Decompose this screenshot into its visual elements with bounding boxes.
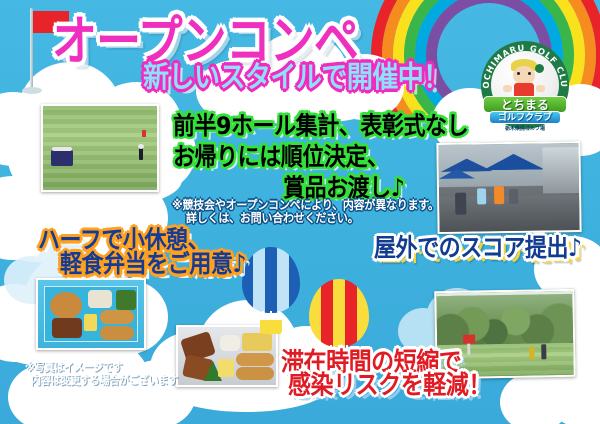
disclaimer-line-2: 詳しくは、お問い合わせください。 bbox=[186, 212, 358, 225]
flag-cup-icon bbox=[22, 87, 42, 94]
photo-salad bbox=[88, 290, 112, 308]
mascot-hand-right-icon bbox=[536, 85, 545, 92]
photo-tamagoyaki bbox=[84, 314, 97, 331]
mascot-eye-right-icon bbox=[528, 72, 531, 75]
balloon-red-gore-1 bbox=[309, 279, 321, 347]
poster-subtitle: 新しいスタイルで開催中！ bbox=[143, 63, 449, 94]
balloon-red-gore-4 bbox=[345, 279, 357, 347]
photo-green-flag bbox=[463, 335, 475, 344]
photo-fried-1 bbox=[100, 310, 134, 324]
body-line-2: お帰りには順位決定、 bbox=[173, 145, 389, 171]
balloon-blue-basket bbox=[260, 320, 282, 334]
photo-green-player-1 bbox=[529, 346, 534, 359]
photo-rice bbox=[220, 335, 240, 351]
photo-greens bbox=[116, 290, 136, 310]
mascot-eye-left-icon bbox=[517, 72, 520, 75]
logo-name-banner-2: ゴルフクラブ bbox=[489, 111, 561, 124]
right-callout-line-1: 屋外でのスコア提出♪ bbox=[374, 236, 582, 262]
balloon-blue-envelope bbox=[242, 247, 300, 313]
footnote-line-2: 内容は変更する場合がございます bbox=[31, 376, 178, 388]
mascot-leaf-icon bbox=[535, 64, 544, 73]
balloon-red-gore-2 bbox=[321, 279, 333, 347]
photo-korokke bbox=[50, 292, 82, 319]
tochimaru-golf-club-logo: TOCHIMARU GOLF CLUB とちまる ゴルフクラブ 栃木県民ゴルフ場 bbox=[481, 41, 569, 129]
body-line-1: 前半9ホール集計、表彰式なし bbox=[173, 114, 468, 140]
left-callout-line-2: 軽食弁当をご用意♪ bbox=[60, 252, 246, 278]
photo-cart-roof bbox=[52, 147, 72, 151]
balloon-red-gore-3 bbox=[333, 279, 345, 347]
mascot-hand-left-icon bbox=[503, 85, 512, 92]
logo-caption: 栃木県民ゴルフ場 bbox=[481, 125, 569, 132]
photo-tamago-2 bbox=[218, 359, 234, 377]
poster-canvas: TOCHIMARU GOLF CLUB とちまる ゴルフクラブ 栃木県民ゴルフ場 bbox=[0, 0, 600, 424]
photo-outdoor-terrace bbox=[436, 141, 581, 234]
photo-fried-2 bbox=[100, 326, 134, 340]
photo-golfer-head bbox=[138, 144, 144, 149]
balloon-red-gore-5 bbox=[357, 279, 369, 347]
photo-bento-box-1 bbox=[36, 278, 146, 350]
photo-golf-bag bbox=[455, 193, 466, 215]
balloon-blue bbox=[242, 247, 300, 335]
photo-golf-cart bbox=[51, 150, 73, 166]
balloon-red-envelope bbox=[309, 279, 369, 347]
photo-meat bbox=[52, 318, 82, 338]
photo-clubhouse bbox=[542, 147, 581, 194]
balloon-blue-gore-3 bbox=[265, 247, 277, 313]
bottom-callout-line-2: 感染リスクを軽減！ bbox=[288, 372, 491, 399]
footnote-line-1: ※写真はイメージです bbox=[25, 363, 123, 375]
photo-pin-flag bbox=[142, 130, 146, 137]
photo-person-3 bbox=[509, 189, 518, 204]
photo-fried-3 bbox=[236, 353, 274, 366]
photo-green-trees bbox=[436, 294, 573, 348]
balloon-blue-gore-5 bbox=[289, 247, 300, 313]
photo-side-dish bbox=[242, 333, 272, 351]
photo-fried-4 bbox=[236, 367, 274, 380]
photo-golfer bbox=[139, 148, 143, 160]
flag-pole-icon bbox=[30, 8, 33, 92]
photo-golf-course-cart bbox=[41, 104, 159, 192]
photo-person-2 bbox=[494, 186, 504, 204]
balloon-blue-gore-4 bbox=[277, 247, 289, 313]
logo-name-line2: ゴルフクラブ bbox=[490, 112, 560, 125]
disclaimer-line-1: ※競技会やオープンコンペにより、内容が異なります。 bbox=[172, 199, 439, 212]
balloon-blue-gore-2 bbox=[253, 247, 265, 313]
photo-person-1 bbox=[477, 188, 486, 204]
photo-green-player-2 bbox=[541, 344, 546, 359]
